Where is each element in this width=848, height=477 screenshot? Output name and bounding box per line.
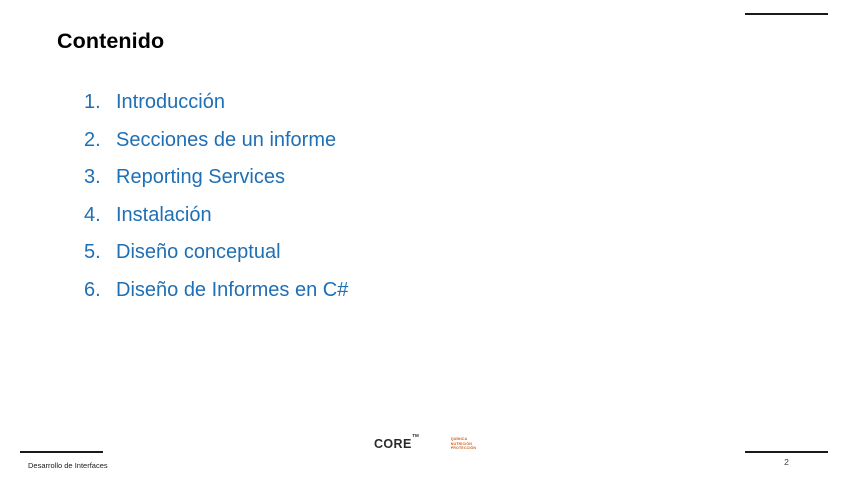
trademark-icon: TM [412, 434, 419, 439]
list-item-label: Reporting Services [116, 166, 285, 189]
list-item[interactable]: 2. Secciones de un informe [84, 129, 348, 167]
list-item-label: Instalación [116, 204, 212, 227]
agenda-list: 1. Introducción 2. Secciones de un infor… [84, 91, 348, 316]
list-item-number: 2. [84, 129, 116, 152]
list-item[interactable]: 6. Diseño de Informes en C# [84, 279, 348, 317]
footer-right-rule [745, 451, 828, 453]
page-number: 2 [745, 457, 828, 467]
logo-tagline: QUÍMICA NUTRICIÓN PROTECCIÓN [451, 437, 476, 452]
list-item[interactable]: 3. Reporting Services [84, 166, 348, 204]
list-item-label: Introducción [116, 91, 225, 114]
list-item-label: Diseño de Informes en C# [116, 279, 348, 302]
logo-wordmark: CORE TM [374, 438, 412, 451]
footer-left-rule [20, 451, 103, 453]
logo-wordmark-text: CORE [374, 437, 412, 451]
list-item-number: 4. [84, 204, 116, 227]
list-item-label: Secciones de un informe [116, 129, 336, 152]
list-item-number: 6. [84, 279, 116, 302]
list-item[interactable]: 4. Instalación [84, 204, 348, 242]
list-item-number: 1. [84, 91, 116, 114]
top-right-rule [745, 13, 828, 15]
list-item[interactable]: 1. Introducción [84, 91, 348, 129]
page-title: Contenido [57, 29, 164, 54]
core-logo: CORE TM QUÍMICA NUTRICIÓN PROTECCIÓN [374, 428, 478, 460]
list-item-number: 3. [84, 166, 116, 189]
logo-ring-icon [419, 431, 445, 457]
footer-course-label: Desarrollo de Interfaces [28, 461, 108, 470]
list-item[interactable]: 5. Diseño conceptual [84, 241, 348, 279]
logo-tagline-line: PROTECCIÓN [451, 446, 476, 451]
slide-canvas: Contenido 1. Introducción 2. Secciones d… [0, 0, 848, 477]
list-item-label: Diseño conceptual [116, 241, 281, 264]
list-item-number: 5. [84, 241, 116, 264]
